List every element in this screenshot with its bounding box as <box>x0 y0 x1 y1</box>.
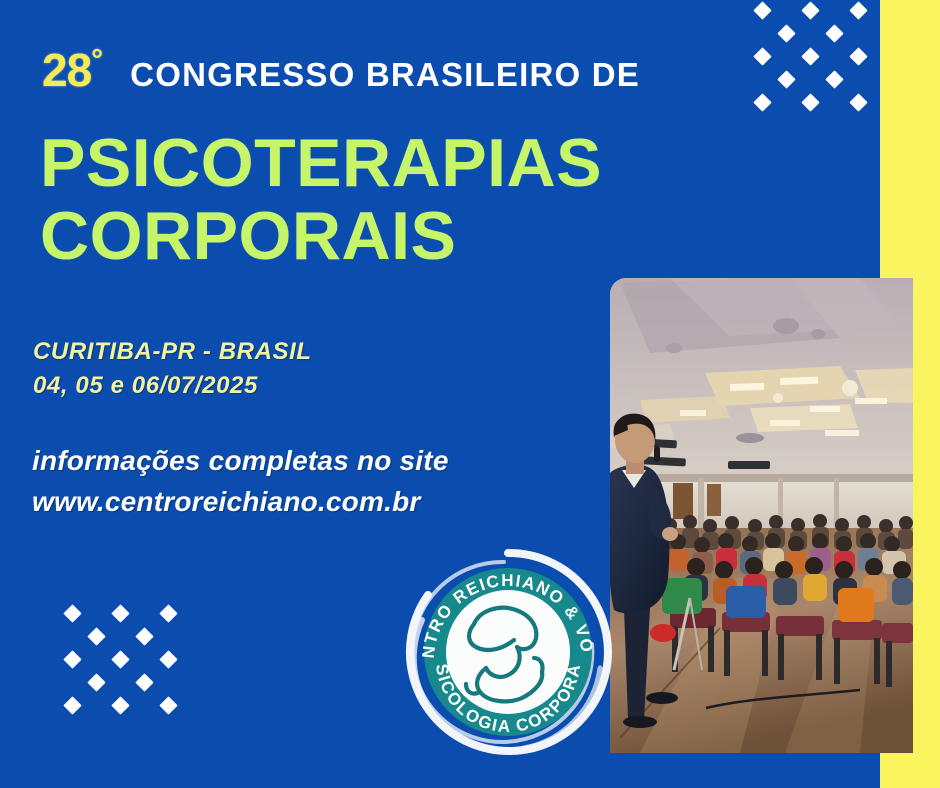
diamond-dot-gap <box>159 627 177 645</box>
diamond-dot <box>159 650 177 668</box>
conference-photo-illustration <box>610 278 913 753</box>
diamond-dot-gap <box>111 673 129 691</box>
diamond-dot <box>135 673 153 691</box>
website-url[interactable]: www.centroreichiano.com.br <box>32 482 449 523</box>
diamond-dot-gap <box>63 627 81 645</box>
diamond-dot <box>111 604 129 622</box>
diamond-dot <box>159 696 177 714</box>
diamond-dot-gap <box>825 1 843 19</box>
headline-row: 28° CONGRESSO BRASILEIRO DE <box>42 43 640 97</box>
organization-logo: CENTRO REICHIANO & VOLPI PSICOLOGIA CORP… <box>404 548 612 756</box>
edition-number-value: 28 <box>42 44 91 96</box>
info-block: informações completas no site www.centro… <box>32 441 449 522</box>
diamond-dot-gap <box>753 70 771 88</box>
diamond-dot-gap <box>135 696 153 714</box>
diamond-dot <box>63 650 81 668</box>
diamond-dot <box>849 1 867 19</box>
event-location-dates: CURITIBA-PR - BRASIL 04, 05 e 06/07/2025 <box>33 335 312 403</box>
poster-canvas: 28° CONGRESSO BRASILEIRO DE PSICOTERAPIA… <box>0 0 940 788</box>
diamond-dot <box>111 650 129 668</box>
headline-kicker: CONGRESSO BRASILEIRO DE <box>130 56 640 94</box>
diamond-dot-gap <box>159 673 177 691</box>
diamond-dot <box>87 673 105 691</box>
diamond-dot <box>801 47 819 65</box>
diamond-dot-gap <box>87 604 105 622</box>
diamond-dot <box>825 70 843 88</box>
diamond-dot-gap <box>135 604 153 622</box>
diamond-dot-gap <box>801 24 819 42</box>
diamond-dot <box>87 627 105 645</box>
title-line-1: PSICOTERAPIAS <box>40 125 602 201</box>
edition-number: 28° <box>42 43 102 97</box>
dot-pattern-top-right <box>756 4 876 116</box>
degree-symbol: ° <box>91 44 102 77</box>
diamond-dot <box>825 24 843 42</box>
diamond-dot <box>753 93 771 111</box>
diamond-dot <box>849 93 867 111</box>
diamond-dot-gap <box>753 24 771 42</box>
diamond-dot-gap <box>63 673 81 691</box>
diamond-dot-gap <box>111 627 129 645</box>
diamond-dot-gap <box>777 1 795 19</box>
conference-photo <box>610 278 913 753</box>
title-line-2: CORPORAIS <box>40 200 660 273</box>
dot-pattern-bottom-left <box>66 607 186 719</box>
diamond-dot <box>111 696 129 714</box>
diamond-dot-gap <box>825 47 843 65</box>
diamond-dot <box>159 604 177 622</box>
logo-illustration: CENTRO REICHIANO & VOLPI PSICOLOGIA CORP… <box>404 548 612 756</box>
info-line: informações completas no site <box>32 441 449 482</box>
event-location: CURITIBA-PR - BRASIL <box>33 335 312 369</box>
diamond-dot <box>777 70 795 88</box>
page-title: PSICOTERAPIAS CORPORAIS <box>40 127 660 274</box>
diamond-dot-gap <box>87 650 105 668</box>
diamond-dot-gap <box>825 93 843 111</box>
diamond-dot <box>63 696 81 714</box>
diamond-dot-gap <box>135 650 153 668</box>
diamond-dot-gap <box>849 24 867 42</box>
diamond-dot <box>753 47 771 65</box>
event-dates: 04, 05 e 06/07/2025 <box>33 369 312 403</box>
diamond-dot-gap <box>801 70 819 88</box>
diamond-dot <box>801 1 819 19</box>
diamond-dot-gap <box>777 93 795 111</box>
diamond-dot <box>753 1 771 19</box>
diamond-dot-gap <box>87 696 105 714</box>
diamond-dot <box>801 93 819 111</box>
diamond-dot <box>63 604 81 622</box>
diamond-dot <box>849 47 867 65</box>
diamond-dot-gap <box>777 47 795 65</box>
diamond-dot-gap <box>849 70 867 88</box>
diamond-dot <box>135 627 153 645</box>
diamond-dot <box>777 24 795 42</box>
